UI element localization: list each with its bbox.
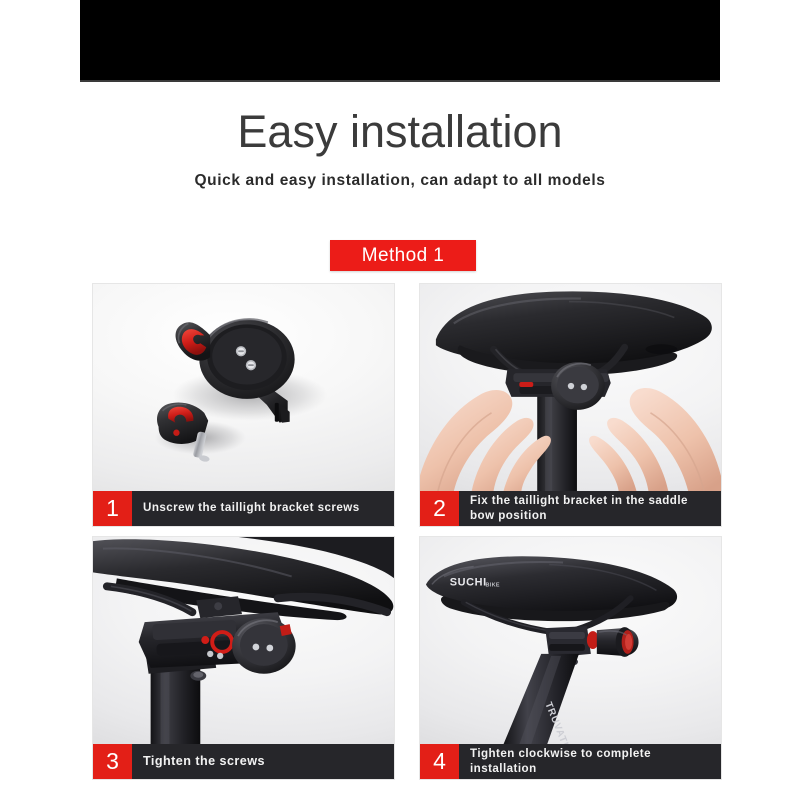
- infographic-page: Easy installation Quick and easy install…: [0, 0, 800, 800]
- completed-installation-illustration: SUCHI BIKE: [420, 537, 721, 744]
- bracket-parts-illustration: [93, 284, 394, 491]
- top-black-banner: [80, 0, 720, 80]
- hands-mounting-bracket-illustration: [420, 284, 721, 491]
- step-panel-3: 3 Tighten the screws: [92, 536, 395, 780]
- step-3-number: 3: [93, 744, 132, 779]
- step-panel-1: 1 Unscrew the taillight bracket screws: [92, 283, 395, 527]
- step-1-caption-text: Unscrew the taillight bracket screws: [132, 491, 394, 526]
- svg-text:BIKE: BIKE: [486, 582, 500, 588]
- bracket-closeup-illustration: [93, 537, 394, 744]
- saddle-brand-text: SUCHI: [450, 576, 487, 588]
- step-1-caption-bar: 1 Unscrew the taillight bracket screws: [93, 491, 394, 526]
- step-panel-2: 2 Fix the taillight bracket in the saddl…: [419, 283, 722, 527]
- step-2-photo: [420, 284, 721, 491]
- step-2-number: 2: [420, 491, 459, 526]
- method-badge-label: Method 1: [362, 245, 444, 267]
- method-badge: Method 1: [330, 240, 476, 271]
- step-3-photo: [93, 537, 394, 744]
- step-2-caption-bar: 2 Fix the taillight bracket in the saddl…: [420, 491, 721, 526]
- step-3-caption-bar: 3 Tighten the screws: [93, 744, 394, 779]
- step-4-caption-bar: 4 Tighten clockwise to complete installa…: [420, 744, 721, 779]
- step-2-caption-text: Fix the taillight bracket in the saddle …: [459, 491, 721, 526]
- heading-block: Easy installation Quick and easy install…: [0, 108, 800, 190]
- steps-grid: 1 Unscrew the taillight bracket screws: [92, 283, 722, 780]
- step-4-photo: SUCHI BIKE: [420, 537, 721, 744]
- step-4-caption-text: Tighten clockwise to complete installati…: [459, 744, 721, 779]
- step-1-number: 1: [93, 491, 132, 526]
- step-1-photo: [93, 284, 394, 491]
- page-subtitle: Quick and easy installation, can adapt t…: [0, 172, 800, 190]
- step-4-number: 4: [420, 744, 459, 779]
- step-3-caption-text: Tighten the screws: [132, 744, 394, 779]
- step-panel-4: SUCHI BIKE: [419, 536, 722, 780]
- page-title: Easy installation: [0, 108, 800, 155]
